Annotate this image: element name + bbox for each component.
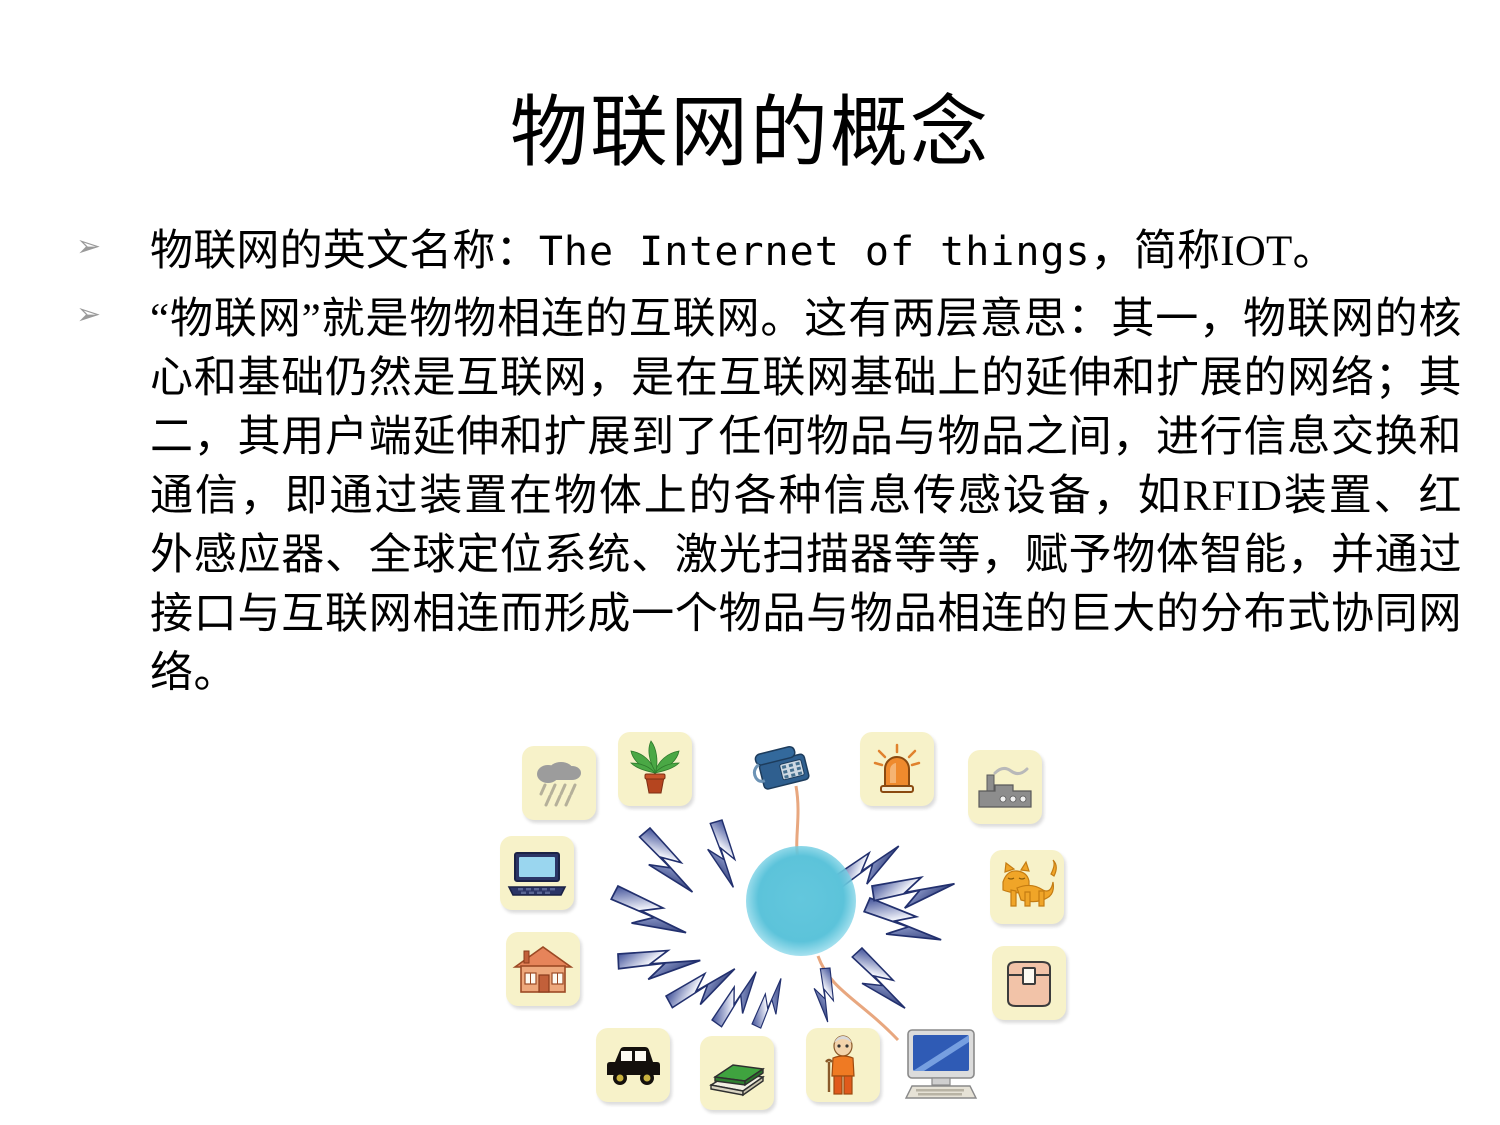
telephone-icon	[745, 730, 819, 804]
rain-cloud-icon	[522, 746, 596, 820]
bullet-1-prefix: 物联网的英文名称：	[150, 228, 539, 275]
books-icon	[700, 1036, 774, 1110]
bullet-1-suffix: ，简称IOT。	[1091, 228, 1336, 275]
page-title: 物联网的概念	[0, 92, 1500, 174]
bullet-arrow-icon: ➢	[62, 222, 150, 262]
house-icon	[506, 932, 580, 1006]
bullet-list: ➢ 物联网的英文名称：The Internet of things，简称IOT。…	[62, 222, 1462, 703]
bullet-item-2: ➢ “物联网”就是物物相连的互联网。这有两层意思：其一，物联网的核心和基础仍然是…	[62, 290, 1462, 703]
cat-icon	[990, 850, 1064, 924]
potted-plant-icon	[618, 732, 692, 806]
slide-canvas: 物联网的概念 ➢ 物联网的英文名称：The Internet of things…	[0, 0, 1500, 1125]
laptop-icon	[500, 836, 574, 910]
iot-diagram	[500, 728, 1080, 1110]
bullet-1-latin: The Internet of things	[539, 229, 1091, 275]
elderly-person-icon	[806, 1028, 880, 1102]
factory-icon	[968, 750, 1042, 824]
bullet-item-2-text: “物联网”就是物物相连的互联网。这有两层意思：其一，物联网的核心和基础仍然是互联…	[150, 290, 1462, 703]
car-icon	[596, 1028, 670, 1102]
alarm-siren-icon	[860, 732, 934, 806]
package-box-icon	[992, 946, 1066, 1020]
bullet-arrow-icon: ➢	[62, 290, 150, 330]
bullet-item-1-text: 物联网的英文名称：The Internet of things，简称IOT。	[150, 222, 1462, 282]
desktop-computer-icon	[898, 1024, 984, 1106]
bullet-item-1: ➢ 物联网的英文名称：The Internet of things，简称IOT。	[62, 222, 1462, 282]
iot-hub-node	[746, 846, 856, 956]
